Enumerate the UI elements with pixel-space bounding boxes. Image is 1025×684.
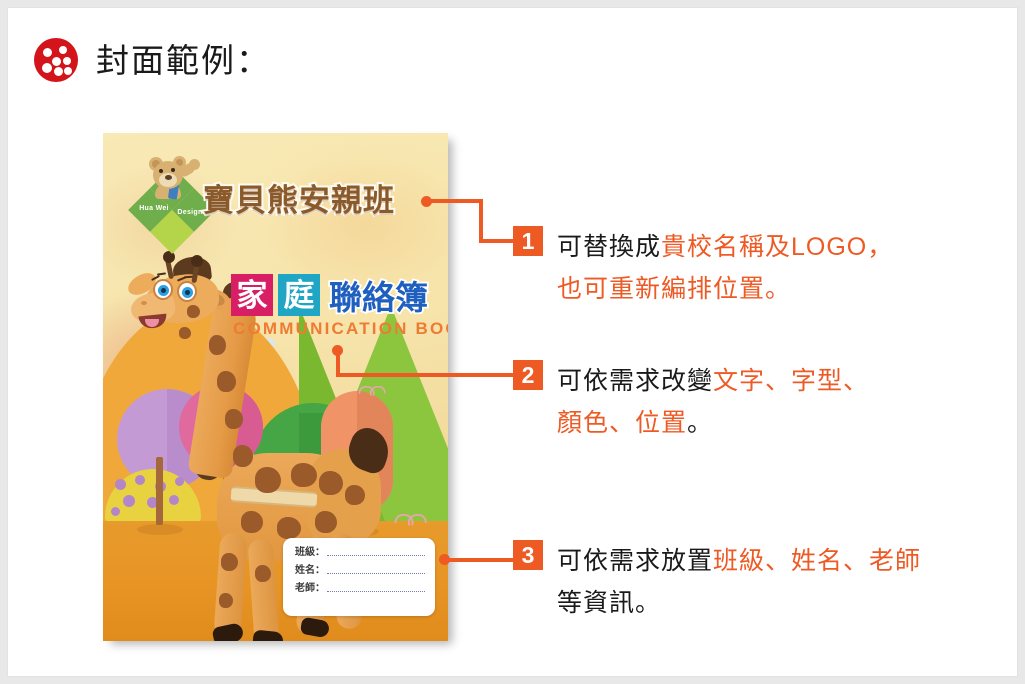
logo-text-line1: Hua Wei [137,205,171,213]
cover-info-box: 班級： 姓名： 老師： [283,538,435,616]
annotation-text-2: 可依需求改變文字、字型、 顏色、位置。 [557,360,869,444]
info-write-line [327,573,425,574]
page-canvas: 封面範例： [8,8,1017,676]
annotation-2: 2 可依需求改變文字、字型、 顏色、位置。 [513,360,869,444]
annotation-3: 3 可依需求放置班級、姓名、老師 等資訊。 [513,540,921,624]
annotation-1: 1 可替換成貴校名稱及LOGO， 也可重新編排位置。 [513,226,893,310]
cover-school-logo: Hua Wei Design [131,155,213,241]
annotation-text-3: 可依需求放置班級、姓名、老師 等資訊。 [557,540,921,624]
info-row-name: 姓名： [295,565,425,576]
annotation-3-line2-plain: 等資訊。 [557,589,661,617]
cover-book-title: 家 庭 聯絡簿 [231,271,428,319]
teddy-bear-icon [145,155,201,199]
annotation-badge-1: 1 [513,226,543,256]
info-row-teacher: 老師： [295,583,425,594]
annotation-2-line1-highlight: 文字、字型、 [713,367,869,395]
annotation-text-1: 可替換成貴校名稱及LOGO， 也可重新編排位置。 [557,226,893,310]
annotation-3-line1-highlight: 班級、姓名、老師 [713,547,921,575]
book-title-rest: 聯絡簿 [329,271,428,319]
cover-book-title-english: COMMUNICATION BOOK [233,319,448,339]
brand-logo-icon [34,38,78,82]
cover-school-name: 寶貝熊安親班 [203,175,395,220]
annotation-1-line1-plain: 可替換成 [557,233,661,261]
page-header: 封面範例： [34,38,271,82]
book-title-tile-2: 庭 [278,274,320,316]
annotation-2-line2-highlight: 顏色、位置 [557,409,687,437]
annotation-1-line2-highlight: 也可重新編排位置。 [557,275,791,303]
annotation-2-line1-plain: 可依需求改變 [557,367,713,395]
info-label-name: 姓名： [295,565,325,576]
book-title-tile-1: 家 [231,274,273,316]
info-label-class: 班級： [295,547,325,558]
info-write-line [327,555,425,556]
annotation-badge-2: 2 [513,360,543,390]
book-cover-preview: Hua Wei Design 寶貝熊安親班 家 庭 聯絡簿 COMMUNICAT… [103,133,448,641]
info-label-teacher: 老師： [295,583,325,594]
annotation-badge-3: 3 [513,540,543,570]
annotation-2-line2-plain: 。 [687,409,713,437]
annotation-1-line1-highlight: 貴校名稱及LOGO， [661,233,893,261]
page-title: 封面範例： [96,44,271,77]
info-row-class: 班級： [295,547,425,558]
info-write-line [327,591,425,592]
annotation-3-line1-plain: 可依需求放置 [557,547,713,575]
